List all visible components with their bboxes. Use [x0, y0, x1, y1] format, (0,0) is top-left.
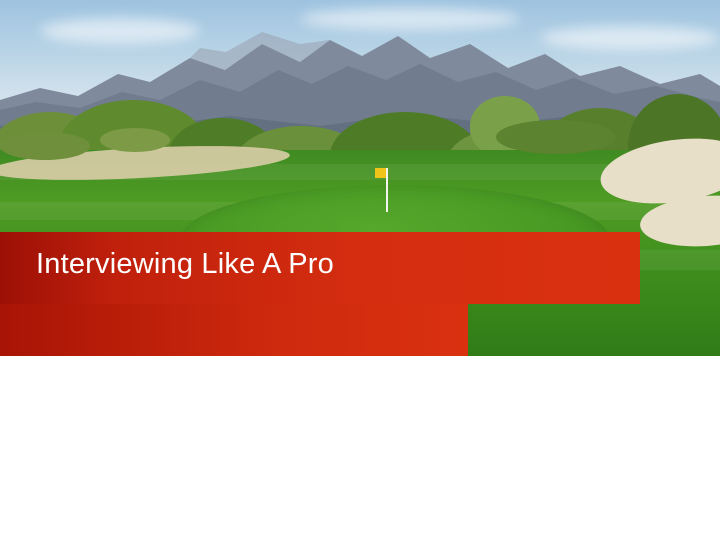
- shrub: [0, 132, 90, 160]
- lower-panel: Bruce R. Williams, CGCS International Ma…: [0, 356, 720, 540]
- shrub: [496, 120, 616, 154]
- flagstick: [386, 168, 388, 212]
- presentation-slide: Interviewing Like A Pro Bruce R. William…: [0, 0, 720, 540]
- title-band-lower: [0, 304, 468, 356]
- shrub: [100, 128, 170, 152]
- page-title: Interviewing Like A Pro: [36, 248, 334, 281]
